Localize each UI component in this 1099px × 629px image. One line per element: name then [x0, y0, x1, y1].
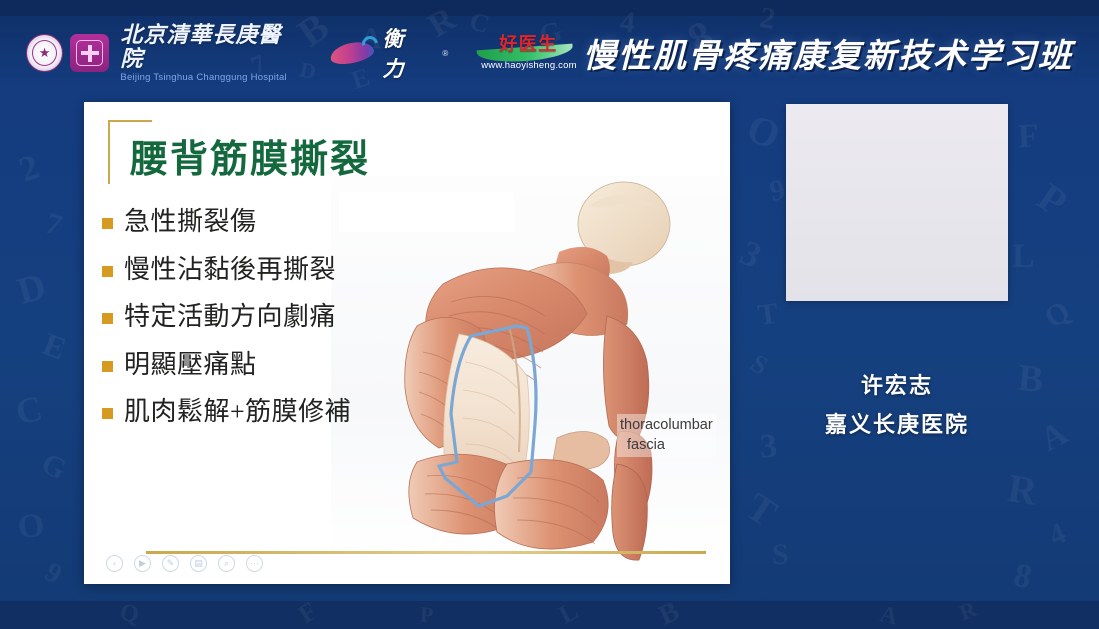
background-watermark-glyph: O	[16, 508, 47, 545]
anatomy-label: thoracolumbar fascia	[617, 414, 716, 457]
background-watermark-glyph: F	[1017, 119, 1040, 154]
course-title: 慢性肌骨疼痛康复新技术学习班	[583, 29, 1099, 77]
hospital-name-en: Beijing Tsinghua Changgung Hospital	[120, 72, 300, 83]
background-watermark-glyph: O	[742, 108, 786, 157]
bullet-marker-icon	[102, 361, 113, 372]
background-watermark-glyph: 9	[767, 175, 787, 207]
top-strip	[0, 0, 1099, 16]
speaker-caption: 许宏志 嘉义长庚医院	[786, 368, 1008, 439]
background-watermark-glyph: P	[1031, 177, 1074, 224]
background-watermark-glyph: G	[37, 448, 71, 485]
background-watermark-glyph: P	[419, 604, 434, 627]
pen-icon[interactable]: ✎	[162, 555, 179, 572]
player-toolbar[interactable]: ‹▶✎▤⌕···	[106, 555, 263, 572]
slide-card: 腰背筋膜撕裂	[84, 102, 730, 584]
save-icon[interactable]: ▤	[190, 555, 207, 572]
search-icon[interactable]: ⌕	[218, 555, 235, 572]
slide-bullet-item: 肌肉鬆解+筋膜修補	[102, 396, 422, 429]
background-watermark-glyph: Q	[118, 601, 140, 627]
hengli-logo: 衡 力 ®	[330, 23, 449, 83]
background-watermark-glyph: S	[772, 540, 789, 570]
hospital-name-cn: 北京清華長庚醫院	[120, 23, 300, 71]
hengli-logo-text: 衡 力	[382, 23, 440, 83]
slide-bullet-list: 急性撕裂傷慢性沾黏後再撕裂特定活動方向劇痛明顯壓痛點肌肉鬆解+筋膜修補	[102, 206, 422, 444]
bullet-marker-icon	[102, 313, 113, 324]
bullet-text: 慢性沾黏後再撕裂	[124, 254, 336, 287]
background-watermark-glyph: D	[13, 267, 50, 311]
header-bar: 北京清華長庚醫院 Beijing Tsinghua Changgung Hosp…	[0, 16, 1099, 90]
bottom-strip	[0, 601, 1099, 629]
background-watermark-glyph: B	[1016, 359, 1045, 399]
background-watermark-glyph: E	[39, 327, 70, 365]
speaker-photo: Dr. Hung-Chih Hsu Rehab. Dept.	[786, 104, 1008, 301]
background-watermark-glyph: L	[1012, 240, 1035, 274]
presentation-stage: BAR4827DECGO93TSFPLQBAR4827DECGO93TSFPLQ…	[0, 0, 1099, 629]
more-icon[interactable]: ···	[246, 555, 263, 572]
background-watermark-glyph: R	[1005, 468, 1040, 512]
background-watermark-glyph: T	[756, 299, 780, 331]
background-watermark-glyph: Q	[1040, 296, 1076, 334]
anatomy-label-line1: thoracolumbar	[620, 417, 713, 433]
background-watermark-glyph: 8	[1010, 559, 1034, 596]
hengli-swoosh-icon	[330, 36, 381, 70]
slide-bullet-item: 明顯壓痛點	[102, 349, 422, 382]
anatomy-label-line2: fascia	[620, 436, 713, 456]
slide-bullet-item: 慢性沾黏後再撕裂	[102, 254, 422, 287]
background-watermark-glyph: A	[1035, 416, 1073, 458]
bullet-marker-icon	[102, 408, 113, 419]
haoyisheng-url: www.haoyisheng.com	[481, 60, 576, 71]
back-icon[interactable]: ‹	[106, 555, 123, 572]
bullet-marker-icon	[102, 218, 113, 229]
university-seal-icon	[26, 34, 63, 72]
sponsor-logos: 北京清華長庚醫院 Beijing Tsinghua Changgung Hosp…	[0, 23, 583, 83]
background-watermark-glyph: C	[13, 390, 46, 431]
bullet-text: 急性撕裂傷	[124, 206, 257, 239]
play-icon[interactable]: ▶	[134, 555, 151, 572]
bullet-text: 明顯壓痛點	[124, 349, 257, 382]
background-watermark-glyph: 7	[42, 208, 65, 241]
background-watermark-glyph: 3	[759, 429, 778, 464]
background-watermark-glyph: 3	[735, 234, 767, 274]
background-watermark-glyph: 9	[40, 558, 66, 589]
slide-footer-rule	[146, 551, 706, 554]
haoyisheng-logo-text: 好医生	[499, 30, 558, 56]
background-watermark-glyph: S	[746, 350, 772, 380]
hospital-name-block: 北京清華長庚醫院 Beijing Tsinghua Changgung Hosp…	[120, 23, 300, 83]
slide-bullet-item: 特定活動方向劇痛	[102, 301, 422, 334]
bullet-text: 肌肉鬆解+筋膜修補	[124, 396, 351, 429]
bullet-text: 特定活動方向劇痛	[124, 301, 336, 334]
bullet-marker-icon	[102, 266, 113, 277]
medical-cross-badge-icon	[70, 34, 109, 72]
slide-bullet-item: 急性撕裂傷	[102, 206, 422, 239]
slide-title: 腰背筋膜撕裂	[130, 128, 370, 183]
background-watermark-glyph: T	[739, 486, 783, 534]
speaker-organization: 嘉义长庚医院	[786, 407, 1008, 439]
speaker-name: 许宏志	[786, 368, 1008, 400]
background-watermark-glyph: 2	[14, 148, 43, 188]
background-watermark-glyph: 4	[1045, 518, 1071, 552]
registered-mark-icon: ®	[442, 49, 448, 58]
haoyisheng-logo: 好医生 www.haoyisheng.com	[477, 30, 583, 76]
